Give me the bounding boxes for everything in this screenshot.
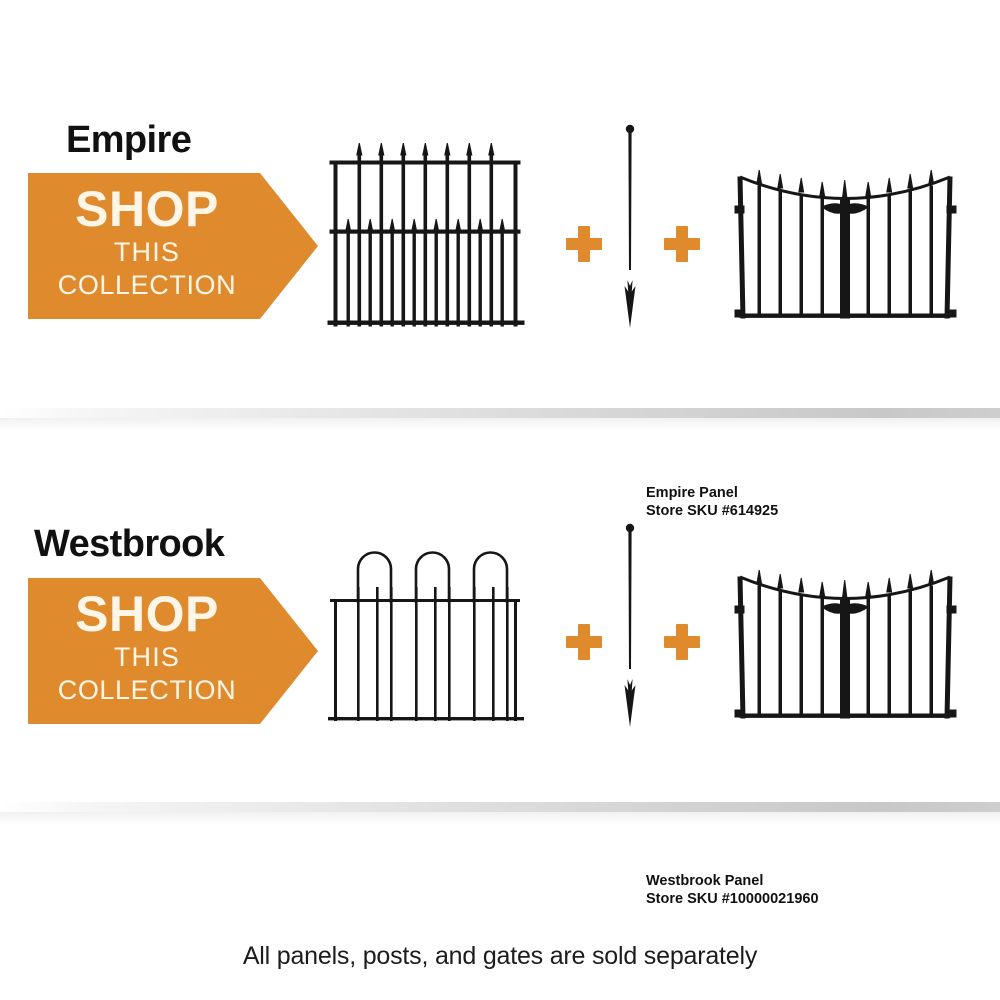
plus-icon (664, 226, 700, 262)
product-name: Westbrook Panel (646, 872, 819, 890)
fence-post-spear-icon (600, 120, 660, 328)
section-westbrook: Westbrook SHOP THIS COLLECTION (0, 408, 1000, 802)
fence-post-spear-icon (600, 519, 660, 727)
plus-icon (566, 624, 602, 660)
fence-gate-double-arched-icon (720, 160, 970, 328)
shop-this-collection-button-empire[interactable]: SHOP THIS COLLECTION (28, 173, 318, 319)
section-empire: Empire SHOP THIS COLLECTION (0, 0, 1000, 408)
infographic-page: Empire SHOP THIS COLLECTION (0, 0, 1000, 1000)
fence-panel-looped-icon (322, 541, 542, 727)
footer-disclaimer: All panels, posts, and gates are sold se… (0, 942, 1000, 971)
this-label: THIS (28, 641, 266, 674)
product-westbrook-gate: Empire/Westbrook Gate Store SKU #1000021… (720, 560, 970, 728)
page-title-westbrook: Westbrook (34, 523, 224, 566)
product-empire-post: Empire/Westbrook Post Store SKU #614947 (600, 120, 660, 328)
fence-panel-spiked-icon (322, 143, 542, 328)
product-empire-gate: Empire/Westbrook Gate Store SKU #1000021… (720, 160, 970, 328)
product-sku: Store SKU #10000021960 (646, 890, 819, 908)
fence-gate-double-arched-icon (720, 560, 970, 728)
section-divider (0, 802, 1000, 812)
product-empire-panel: Empire Panel Store SKU #614925 (322, 143, 542, 328)
collection-label: COLLECTION (28, 269, 266, 302)
product-label-westbrook-panel: Westbrook Panel Store SKU #10000021960 (646, 872, 819, 908)
product-westbrook-panel: Westbrook Panel Store SKU #10000021960 (322, 541, 542, 727)
shop-label: SHOP (28, 587, 266, 641)
shop-this-collection-button-westbrook[interactable]: SHOP THIS COLLECTION (28, 578, 318, 724)
this-label: THIS (28, 236, 266, 269)
collection-label: COLLECTION (28, 674, 266, 707)
plus-icon (664, 624, 700, 660)
plus-icon (566, 226, 602, 262)
product-westbrook-post: Empire/Westbrook Post Store SKU #614947 (600, 519, 660, 727)
page-title-empire: Empire (66, 119, 191, 162)
shop-label: SHOP (28, 182, 266, 236)
